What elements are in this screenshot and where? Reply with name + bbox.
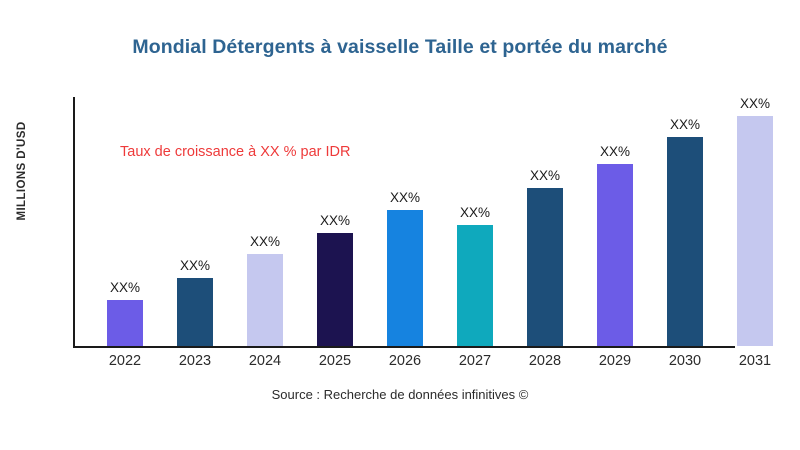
bar-value-label: XX% bbox=[165, 258, 225, 273]
x-axis-tick-labels: 2022202320242025202620272028202920302031 bbox=[73, 353, 783, 377]
bar bbox=[387, 210, 423, 346]
x-axis-tick-2029: 2029 bbox=[580, 353, 650, 369]
chart-title: Mondial Détergents à vaisselle Taille et… bbox=[0, 36, 800, 59]
bar bbox=[457, 225, 493, 346]
source-note: Source : Recherche de données infinitive… bbox=[0, 387, 800, 402]
bar bbox=[247, 254, 283, 346]
x-axis-tick-2028: 2028 bbox=[510, 353, 580, 369]
chart-container: Mondial Détergents à vaisselle Taille et… bbox=[0, 0, 800, 450]
bar bbox=[177, 278, 213, 346]
bars-layer: XX%XX%XX%XX%XX%XX%XX%XX%XX%XX% bbox=[73, 97, 783, 348]
x-axis-tick-2030: 2030 bbox=[650, 353, 720, 369]
y-axis-label: MILLIONS D'USD bbox=[16, 71, 28, 271]
x-axis-tick-2031: 2031 bbox=[720, 353, 790, 369]
bar bbox=[527, 188, 563, 346]
x-axis-tick-2022: 2022 bbox=[90, 353, 160, 369]
bar bbox=[317, 233, 353, 346]
bar bbox=[107, 300, 143, 346]
growth-rate-annotation: Taux de croissance à XX % par IDR bbox=[120, 144, 351, 160]
bar-value-label: XX% bbox=[515, 168, 575, 183]
x-axis-tick-2025: 2025 bbox=[300, 353, 370, 369]
bar-value-label: XX% bbox=[585, 144, 645, 159]
bar-value-label: XX% bbox=[445, 205, 505, 220]
bar-value-label: XX% bbox=[305, 213, 365, 228]
bar bbox=[667, 137, 703, 346]
x-axis-tick-2023: 2023 bbox=[160, 353, 230, 369]
bar bbox=[597, 164, 633, 346]
bar-value-label: XX% bbox=[95, 280, 155, 295]
x-axis-tick-2026: 2026 bbox=[370, 353, 440, 369]
bar-value-label: XX% bbox=[655, 117, 715, 132]
bar bbox=[737, 116, 773, 346]
bar-value-label: XX% bbox=[235, 234, 295, 249]
x-axis-tick-2027: 2027 bbox=[440, 353, 510, 369]
bar-value-label: XX% bbox=[725, 96, 785, 111]
bar-value-label: XX% bbox=[375, 190, 435, 205]
x-axis-tick-2024: 2024 bbox=[230, 353, 300, 369]
